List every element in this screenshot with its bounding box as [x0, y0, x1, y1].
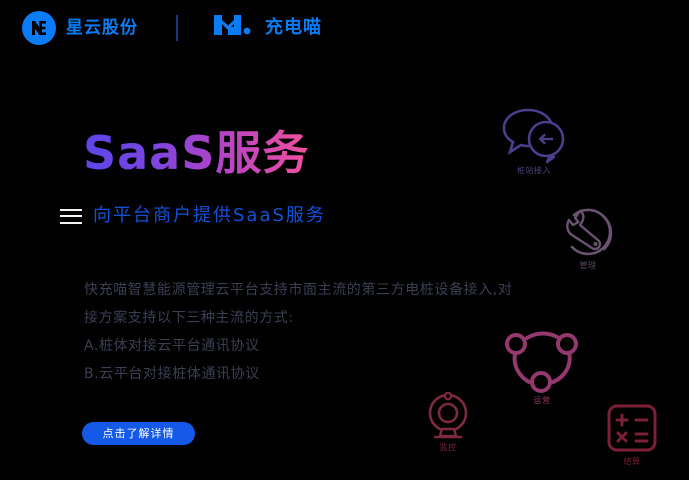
- feature-settlement[interactable]: 结算: [605, 403, 659, 466]
- feature-operations[interactable]: 运营: [503, 328, 581, 405]
- brand-secondary-name: 充电喵: [265, 19, 322, 37]
- header-divider: [176, 15, 178, 41]
- brand-secondary[interactable]: 充电喵: [212, 13, 322, 43]
- wrench-settings-icon: [560, 207, 616, 259]
- calculator-icon: [605, 403, 659, 455]
- page-subtitle: 向平台商户提供SaaS服务: [93, 207, 326, 225]
- cat-face-mark-icon: [212, 13, 258, 43]
- feature-label: 桩站接入: [517, 167, 551, 175]
- feature-management[interactable]: 管理: [560, 207, 616, 270]
- feature-label: 运营: [534, 397, 551, 405]
- ne-monogram-circle-icon: [22, 11, 56, 45]
- feature-label: 管理: [580, 262, 597, 270]
- feature-label: 监控: [440, 444, 457, 452]
- page-title: SaaS服务: [83, 128, 309, 179]
- learn-more-button[interactable]: 点击了解详情: [82, 422, 195, 445]
- brand-primary[interactable]: 星云股份: [22, 11, 138, 45]
- feature-monitoring[interactable]: 监控: [423, 389, 473, 452]
- network-nodes-icon: [503, 328, 581, 394]
- chat-bubbles-arrow-icon: [498, 104, 570, 164]
- hamburger-icon: [60, 209, 82, 224]
- camera-monitor-icon: [423, 389, 473, 441]
- page-header: 星云股份 充电喵: [0, 0, 689, 56]
- slide-page: 星云股份 充电喵 SaaS服务 向平台商户提供SaaS服务 快充喵智慧能源管理云…: [0, 0, 689, 480]
- subtitle-row: 向平台商户提供SaaS服务: [60, 207, 326, 225]
- body-line: 快充喵智慧能源管理云平台支持市面主流的第三方电桩设备接入,对: [84, 276, 584, 304]
- brand-primary-name: 星云股份: [66, 20, 138, 37]
- feature-chat-access[interactable]: 桩站接入: [498, 104, 570, 175]
- feature-label: 结算: [624, 458, 641, 466]
